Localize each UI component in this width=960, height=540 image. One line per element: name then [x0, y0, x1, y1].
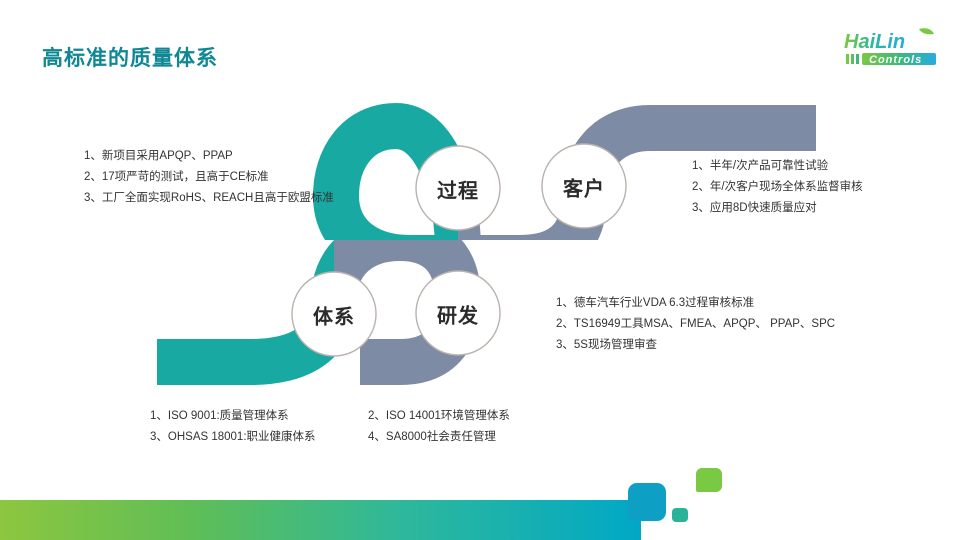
note-cell: 2、ISO 14001环境管理体系: [368, 406, 510, 427]
deco-square-teal: [672, 508, 688, 522]
node-label-rnd: 研发: [437, 300, 479, 329]
slide-canvas: 高标准的质量体系 HaiLin: [0, 0, 960, 540]
bottom-notes: 1、ISO 9001:质量管理体系 2、ISO 14001环境管理体系 3、OH…: [150, 406, 510, 448]
node-label-customer: 客户: [563, 173, 605, 202]
note-line: 3、5S现场管理审查: [556, 335, 835, 356]
process-s-curve-diagram: [0, 0, 960, 540]
ribbon-right-tail: [760, 105, 816, 151]
mid-right-notes: 1、德车汽车行业VDA 6.3过程审核标准 2、TS16949工具MSA、FME…: [556, 293, 835, 356]
leaf-icon: [919, 28, 934, 34]
note-cell: 4、SA8000社会责任管理: [368, 427, 510, 448]
top-left-notes: 1、新项目采用APQP、PPAP 2、17项严苛的测试，且高于CE标准 3、工厂…: [84, 146, 334, 209]
node-label-system: 体系: [313, 301, 355, 330]
top-right-notes: 1、半年/次产品可靠性试验 2、年/次客户现场全体系监督审核 3、应用8D快速质…: [692, 156, 863, 219]
ribbon-left-tail: [157, 339, 197, 385]
deco-square-green: [696, 468, 722, 492]
note-line: 1、德车汽车行业VDA 6.3过程审核标准: [556, 293, 835, 314]
note-line: 1、半年/次产品可靠性试验: [692, 156, 863, 177]
ribbon-lower: [157, 238, 458, 362]
note-line: 3、工厂全面实现RoHS、REACH且高于欧盟标准: [84, 188, 334, 209]
note-line: 2、年/次客户现场全体系监督审核: [692, 177, 863, 198]
logo-tagline: Controls: [869, 54, 922, 66]
note-line: 2、TS16949工具MSA、FMEA、APQP、 PPAP、SPC: [556, 314, 835, 335]
note-line: 2、17项严苛的测试，且高于CE标准: [84, 167, 334, 188]
brand-logo: HaiLin Controls: [836, 26, 948, 70]
note-line: 1、新项目采用APQP、PPAP: [84, 146, 334, 167]
node-label-process: 过程: [437, 175, 479, 204]
deco-square-blue: [628, 483, 666, 521]
note-cell: 3、OHSAS 18001:职业健康体系: [150, 427, 350, 448]
note-line: 3、应用8D快速质量应对: [692, 198, 863, 219]
footer-gradient-bar: [0, 500, 641, 540]
logo-wordmark: HaiLin: [844, 31, 905, 53]
note-cell: 1、ISO 9001:质量管理体系: [150, 406, 350, 427]
page-title: 高标准的质量体系: [42, 42, 218, 72]
